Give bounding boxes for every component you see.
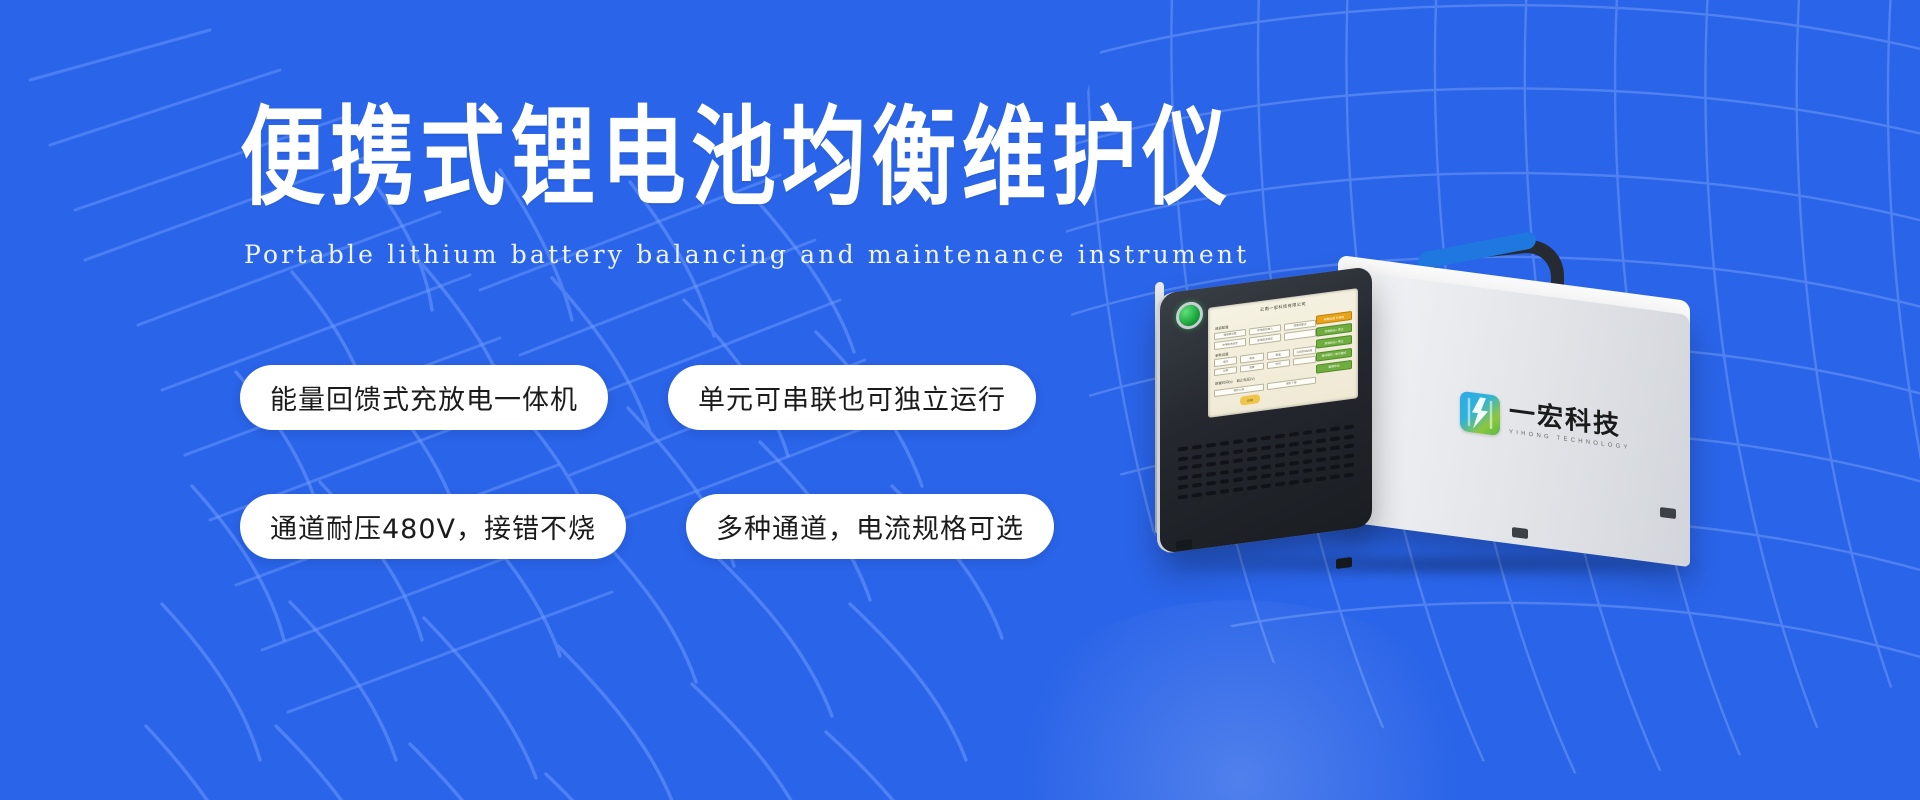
lightning-bolt-icon bbox=[1460, 391, 1500, 436]
screen-action-button[interactable]: 循环模式 / 单次模式 bbox=[1316, 347, 1352, 361]
screen-action-buttons: 参数设置 已保存 充电启动 / 停止 放电启动 / 停止 循环模式 / 单次模式… bbox=[1316, 305, 1352, 396]
device-foot bbox=[1512, 527, 1528, 539]
device-foot bbox=[1176, 539, 1192, 551]
screen-group-label-4: 截止电压(V) bbox=[1237, 376, 1255, 383]
screen-action-button[interactable]: 数据导出 bbox=[1316, 360, 1352, 374]
page-subtitle: Portable lithium battery balancing and m… bbox=[244, 240, 1249, 269]
screen-field[interactable]: 放电电流设定 bbox=[1249, 333, 1281, 345]
banner-content: 便携式锂电池均衡维护仪 Portable lithium battery bal… bbox=[240, 0, 1140, 800]
feature-pill-1[interactable]: 能量回馈式充放电一体机 bbox=[240, 365, 608, 430]
device-touchscreen[interactable]: 云南一宏科技有限公司 通道配置 通道数设置 单体电压输入 温度采集点 充电电流设… bbox=[1208, 288, 1358, 418]
device-foot bbox=[1336, 557, 1352, 569]
screen-form-area: 通道配置 通道数设置 单体电压输入 温度采集点 充电电流设定 放电电流设定 参数… bbox=[1208, 300, 1358, 410]
screen-start-button[interactable]: 启动 bbox=[1240, 394, 1260, 406]
screen-action-button[interactable]: 放电启动 / 停止 bbox=[1316, 335, 1352, 349]
feature-pill-2[interactable]: 单元可串联也可独立运行 bbox=[668, 365, 1036, 430]
feature-pill-4[interactable]: 多种通道，电流规格可选 bbox=[686, 494, 1054, 559]
screen-group-label-3: 静置时间(s) bbox=[1215, 379, 1233, 386]
screen-field[interactable]: 充电电流设定 bbox=[1214, 338, 1246, 350]
screen-form-left: 通道配置 通道数设置 单体电压输入 温度采集点 充电电流设定 放电电流设定 参数… bbox=[1214, 310, 1316, 409]
feature-pill-3[interactable]: 通道耐压480V，接错不烧 bbox=[240, 494, 626, 559]
promo-banner: 便携式锂电池均衡维护仪 Portable lithium battery bal… bbox=[0, 0, 1920, 800]
page-title: 便携式锂电池均衡维护仪 bbox=[240, 104, 1233, 211]
feature-pill-grid: 能量回馈式充放电一体机 单元可串联也可独立运行 通道耐压480V，接错不烧 多种… bbox=[240, 365, 1140, 623]
screen-action-button[interactable]: 参数设置 已保存 bbox=[1316, 311, 1352, 325]
screen-field[interactable] bbox=[1284, 329, 1316, 341]
device-foot bbox=[1660, 507, 1676, 519]
feature-pill-row-2: 通道耐压480V，接错不烧 多种通道，电流规格可选 bbox=[240, 494, 1140, 559]
device-illustration: 一宏科技 YIHONG TECHNOLOGY 云南一宏科技有限公司 通道配置 通… bbox=[1160, 240, 1880, 620]
screen-action-button[interactable]: 充电启动 / 停止 bbox=[1316, 323, 1352, 337]
feature-pill-row-1: 能量回馈式充放电一体机 单元可串联也可独立运行 bbox=[240, 365, 1140, 430]
